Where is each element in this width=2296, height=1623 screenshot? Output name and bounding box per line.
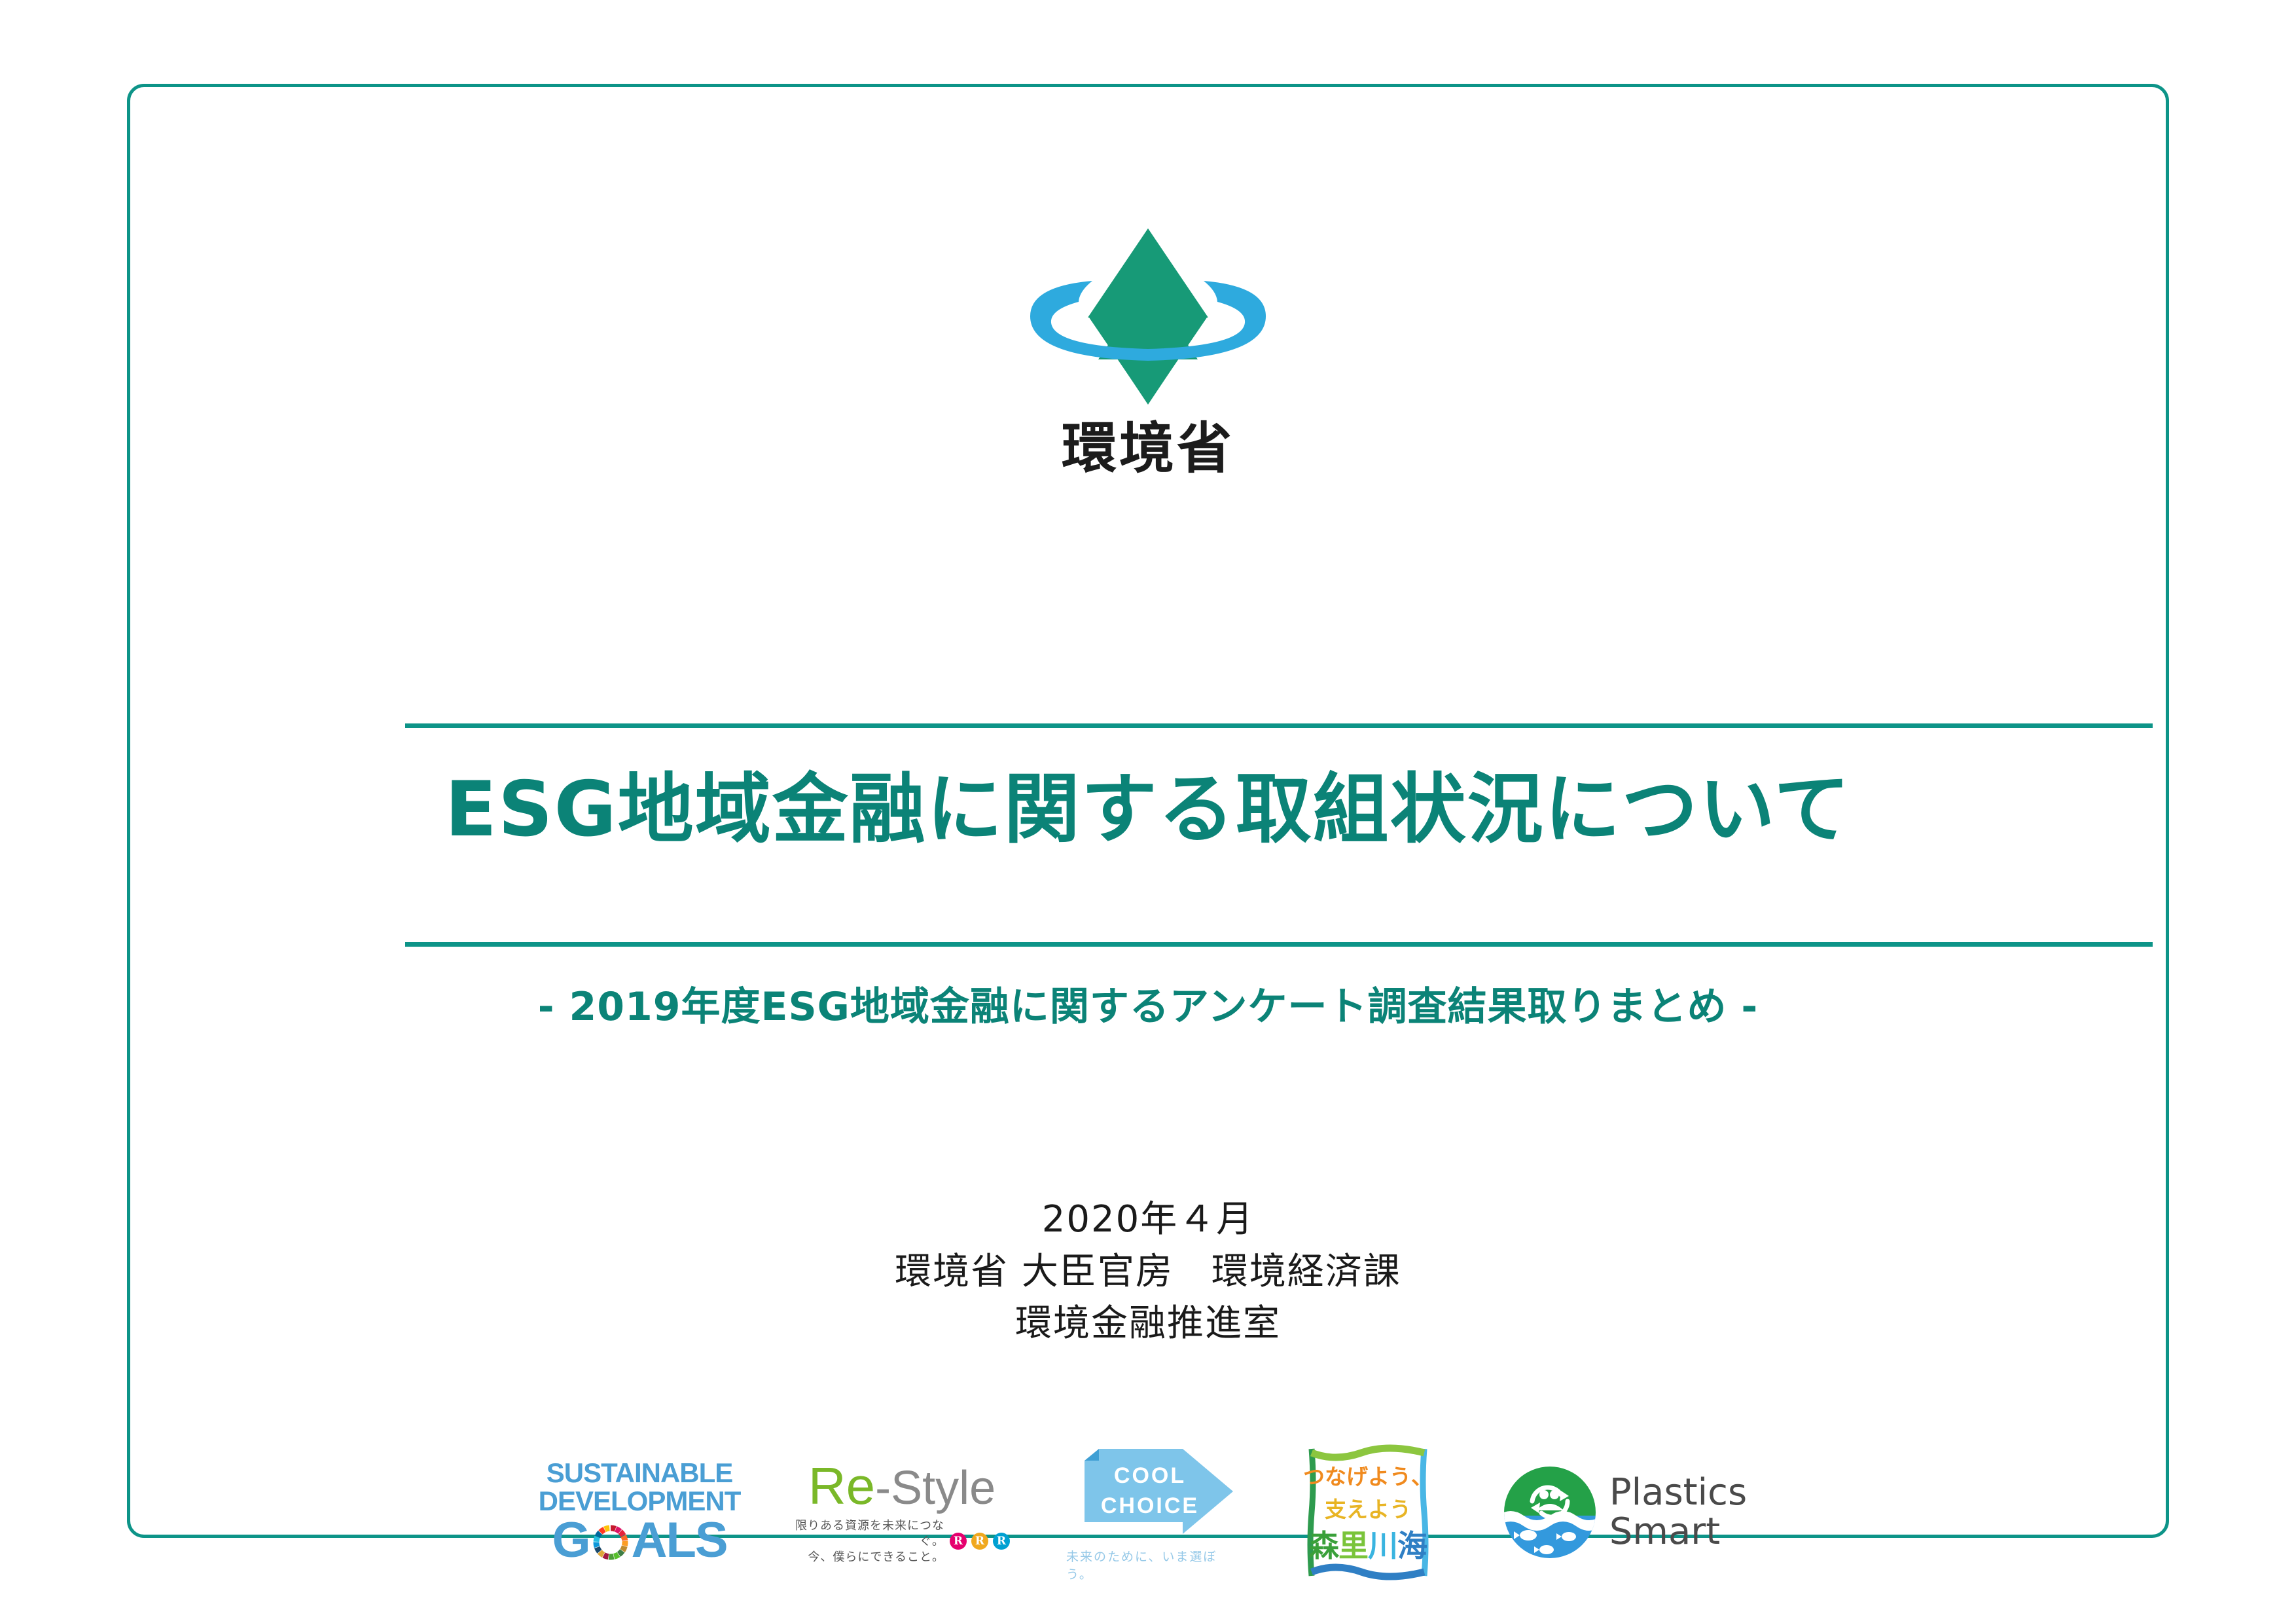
svg-text:CHOICE: CHOICE <box>1101 1493 1199 1518</box>
re-style-dot-orange-icon: R <box>971 1533 988 1550</box>
re-style-re-text: Re <box>808 1460 875 1512</box>
svg-text:川: 川 <box>1368 1528 1398 1563</box>
plastics-smart-logo: Plastics Smart <box>1493 1463 1755 1561</box>
re-style-tagline-line1: 限りある資源を未来につなぐ。 <box>794 1518 944 1550</box>
plastics-smart-line2: Smart <box>1609 1512 1747 1552</box>
sdg-line2: DEVELOPMENT <box>539 1487 741 1516</box>
sdg-goals-word: G <box>552 1516 726 1565</box>
svg-text:里: 里 <box>1338 1528 1369 1563</box>
mori-sato-kawa-umi-logo: つなげよう、 支えよう 森 里 川 海 <box>1299 1444 1437 1581</box>
re-style-tagline-block: 限りある資源を未来につなぐ。 今、僕らにできること。 R R R <box>794 1518 1010 1565</box>
ministry-name-label: 環境省 <box>1062 421 1234 476</box>
cool-choice-arrow-icon: COOL CHOICE <box>1073 1442 1236 1541</box>
svg-text:COOL: COOL <box>1114 1463 1186 1488</box>
re-style-dot-blue-icon: R <box>993 1533 1010 1550</box>
re-style-wordmark: Re -Style <box>808 1460 996 1512</box>
svg-text:森: 森 <box>1309 1528 1340 1563</box>
plastics-smart-wordmark: Plastics Smart <box>1609 1473 1747 1552</box>
page-subtitle: - 2019年度ESG地域金融に関するアンケート調査結果取りまとめ - <box>130 985 2166 1029</box>
publisher-organization: 環境省 大臣官房 環境経済課 <box>130 1246 2166 1298</box>
title-rule-bottom <box>405 942 2153 947</box>
ministry-of-environment-logo-icon <box>1011 218 1285 414</box>
re-style-dot-pink-icon: R <box>950 1533 967 1550</box>
sdg-goals-als: ALS <box>632 1516 727 1565</box>
re-style-tagline: 限りある資源を未来につなぐ。 今、僕らにできること。 <box>794 1518 944 1565</box>
svg-text:支えよう: 支えよう <box>1325 1497 1411 1522</box>
plastics-smart-line1: Plastics <box>1609 1473 1747 1512</box>
svg-text:つなげよう、: つなげよう、 <box>1303 1464 1433 1489</box>
re-style-style-text: -Style <box>875 1465 996 1512</box>
sdg-line1: SUSTAINABLE <box>547 1459 733 1487</box>
page-title: ESG地域金融に関する取組状況について <box>130 768 2166 852</box>
title-rule-top <box>405 723 2153 728</box>
publisher-division: 環境金融推進室 <box>130 1298 2166 1350</box>
sdg-color-wheel-icon <box>591 1521 630 1560</box>
cool-choice-logo: COOL CHOICE 未来のために、いま選ぼう。 <box>1066 1442 1243 1582</box>
sdg-goals-g: G <box>552 1516 589 1565</box>
publisher-block: 2020年４月 環境省 大臣官房 環境経済課 環境金融推進室 <box>130 1194 2166 1350</box>
publication-date: 2020年４月 <box>130 1194 2166 1246</box>
plastics-smart-badge-icon <box>1501 1463 1599 1561</box>
re-style-tagline-line2: 今、僕らにできること。 <box>794 1549 944 1565</box>
partner-logo-strip: SUSTAINABLE DEVELOPMENT G <box>130 1437 2166 1588</box>
ministry-logo-block: 環境省 <box>130 218 2166 476</box>
cool-choice-tagline: 未来のために、いま選ぼう。 <box>1066 1547 1243 1582</box>
svg-text:海: 海 <box>1397 1528 1427 1563</box>
re-style-logo: Re -Style 限りある資源を未来につなぐ。 今、僕らにできること。 R R… <box>794 1460 1010 1565</box>
re-style-dot-icons: R R R <box>950 1533 1010 1550</box>
slide-border-frame: 環境省 ESG地域金融に関する取組状況について - 2019年度ESG地域金融に… <box>127 84 2169 1538</box>
sdg-logo: SUSTAINABLE DEVELOPMENT G <box>541 1459 738 1565</box>
